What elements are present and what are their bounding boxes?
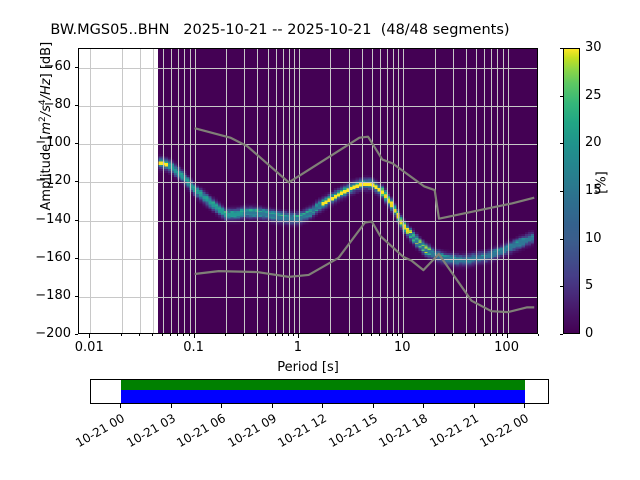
colorbar-tick-label: 30 [585,40,602,55]
x-minor-tick [162,334,163,336]
timeline-tick-mark [221,404,222,408]
y-tick-label: −160 [0,250,71,265]
timeline-tick-label: 10-21 15 [319,411,380,454]
y-tick-mark [75,258,79,259]
x-tick-mark [89,334,90,338]
timeline-tick-mark [272,404,273,408]
timeline-tick-mark [322,404,323,408]
x-minor-tick [475,334,476,336]
timeline-tick-mark [120,404,121,408]
ppsd-axes [78,48,538,334]
x-minor-tick [483,334,484,336]
timeline-tick-mark [171,404,172,408]
coverage-bar-gaps [121,390,525,403]
x-minor-tick [275,334,276,336]
x-tick-mark [298,334,299,338]
y-tick-mark [75,105,79,106]
x-tick-label: 0.01 [75,340,104,355]
noise-model-nhnm [195,128,535,219]
y-tick-mark [75,67,79,68]
x-tick-label: 10 [394,340,411,355]
x-minor-tick [496,334,497,336]
x-minor-tick [225,334,226,336]
x-tick-mark [194,334,195,338]
timeline-tick-mark [373,404,374,408]
x-minor-tick [397,334,398,336]
colorbar-tick-label: 0 [585,326,593,341]
x-minor-tick [392,334,393,336]
x-tick-label: 1 [294,340,302,355]
data-coverage-timeline [90,379,549,404]
x-minor-tick [183,334,184,336]
y-tick-label: −200 [0,326,71,341]
y-tick-label: −100 [0,135,71,150]
colorbar-tick-mark [560,96,564,97]
x-axis-label: Period [s] [78,360,538,375]
timeline-tick-label: 10-21 18 [369,411,430,454]
colorbar-tick-mark [560,48,564,49]
colorbar-tick-label: 15 [585,183,602,198]
y-tick-label: −180 [0,288,71,303]
x-minor-tick [152,334,153,336]
y-tick-mark [75,181,79,182]
coverage-bar-data [121,380,525,390]
x-minor-tick [170,334,171,336]
colorbar-tick-label: 25 [585,88,602,103]
x-minor-tick [379,334,380,336]
timeline-tick-label: 10-22 00 [470,411,531,454]
x-tick-mark [507,334,508,338]
x-minor-tick [189,334,190,336]
timeline-tick-mark [474,404,475,408]
x-minor-tick [361,334,362,336]
y-tick-mark [75,296,79,297]
noise-model-layer [79,49,537,333]
x-minor-tick [465,334,466,336]
y-tick-label: −60 [0,59,71,74]
y-tick-mark [75,143,79,144]
colorbar-tick-label: 10 [585,231,602,246]
x-tick-label: 100 [494,340,519,355]
x-minor-tick [282,334,283,336]
colorbar [563,48,580,334]
y-tick-label: −140 [0,212,71,227]
timeline-tick-label: 10-21 03 [117,411,178,454]
x-minor-tick [293,334,294,336]
x-minor-tick [288,334,289,336]
noise-model-nlnm [195,222,535,313]
timeline-tick-mark [423,404,424,408]
x-minor-tick [538,334,539,336]
y-tick-mark [75,220,79,221]
x-minor-tick [502,334,503,336]
y-tick-label: −80 [0,97,71,112]
x-minor-tick [267,334,268,336]
x-minor-tick [452,334,453,336]
x-tick-mark [402,334,403,338]
colorbar-tick-label: 5 [585,278,593,293]
x-tick-label: 0.1 [183,340,204,355]
x-minor-tick [139,334,140,336]
colorbar-tick-mark [560,334,564,335]
colorbar-tick-mark [560,239,564,240]
timeline-tick-label: 10-21 21 [420,411,481,454]
x-minor-tick [434,334,435,336]
timeline-tick-mark [524,404,525,408]
timeline-tick-label: 10-21 09 [218,411,279,454]
y-tick-label: −120 [0,173,71,188]
x-minor-tick [243,334,244,336]
colorbar-tick-mark [560,143,564,144]
x-minor-tick [490,334,491,336]
x-minor-tick [121,334,122,336]
colorbar-tick-mark [560,191,564,192]
x-minor-tick [371,334,372,336]
colorbar-tick-mark [560,286,564,287]
x-minor-tick [386,334,387,336]
colorbar-tick-label: 20 [585,135,602,150]
timeline-tick-label: 10-21 12 [268,411,329,454]
x-minor-tick [348,334,349,336]
x-minor-tick [329,334,330,336]
page-title: BW.MGS05..BHN 2025-10-21 -- 2025-10-21 (… [0,22,560,38]
x-minor-tick [256,334,257,336]
y-tick-mark [75,334,79,335]
timeline-tick-label: 10-21 06 [167,411,228,454]
timeline-tick-label: 10-21 00 [66,411,127,454]
x-minor-tick [177,334,178,336]
